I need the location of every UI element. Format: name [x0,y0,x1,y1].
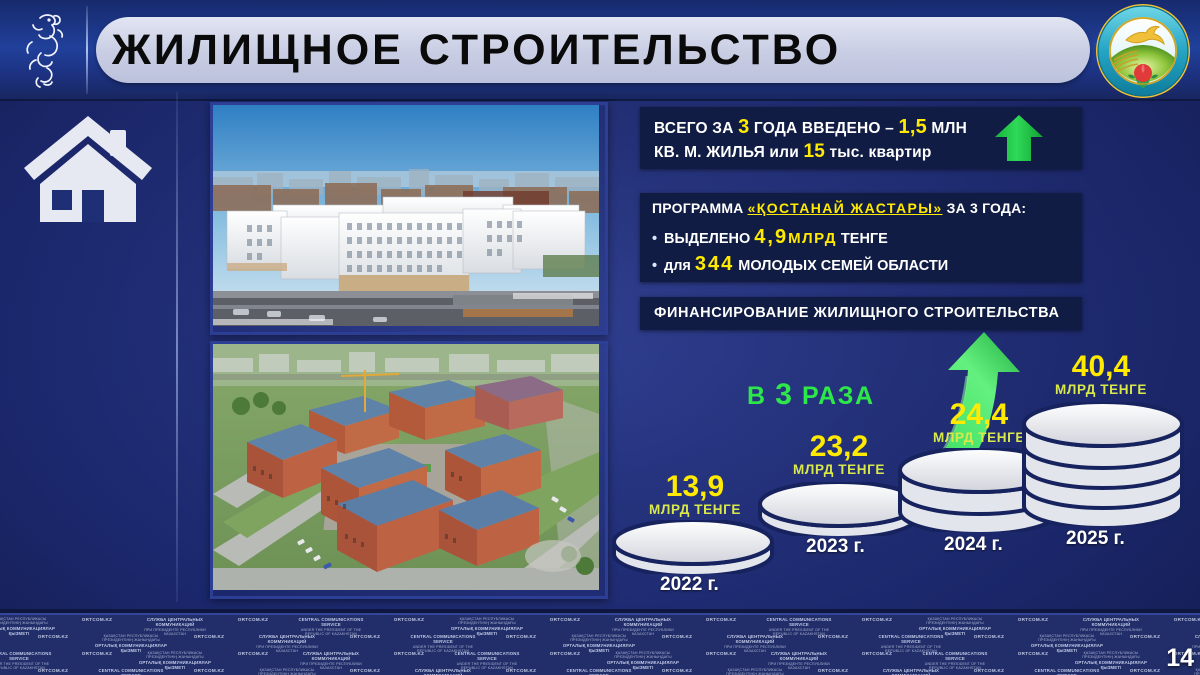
bullet2-amount: 344 [695,253,734,275]
footer-watermark-line: СЛУЖБА ЦЕНТРАЛЬНЫХ КОММУНИКАЦИЙ [292,651,370,662]
footer-watermark-line: ORTCOM.KZ [214,651,292,657]
footer-watermark-line: ҚАЗАҚСТАН РЕСПУБЛИКАСЫ ПРЕЗИДЕНТІНІҢ ЖАН… [916,617,994,626]
coin-stack-2025 [1018,402,1188,526]
footer-watermark-line: ҚАЗАҚСТАН РЕСПУБЛИКАСЫ ПРЕЗИДЕНТІНІҢ ЖАН… [136,651,214,660]
bullet1-unit: МЛРД [788,230,837,247]
footer-watermark-line: ORTCOM.KZ [950,634,1028,640]
header-divider [86,6,88,94]
footer-watermark-line: ҚАЗАҚСТАН РЕСПУБЛИКАСЫ ПРЕЗИДЕНТІНІҢ ЖАН… [92,634,170,643]
growth-pre: В [747,382,775,410]
footer-watermark-item: ORTCOM.KZ [326,634,404,640]
footer-watermark-item: ORTCOM.KZ [838,651,916,657]
footer-watermark-line: ҚАЗАҚСТАН РЕСПУБЛИКАСЫ ПРЕЗИДЕНТІНІҢ ЖАН… [1072,651,1150,660]
footer-watermark-line: ORTCOM.KZ [838,651,916,657]
kostanay-region-emblem-icon [1088,2,1196,100]
total-line-2: КВ. М. ЖИЛЬЯ или 15 тыс. квартир [654,141,932,163]
footer-watermark-item: ORTCOM.KZ [682,651,760,657]
house-icon [20,108,156,228]
footer-watermark-line: ORTCOM.KZ [326,668,404,674]
total-line2-pre: КВ. М. ЖИЛЬЯ или [654,144,803,161]
footer-watermark-item: ORTCOM.KZ [526,617,604,623]
footer-watermark-line: ORTCOM.KZ [58,617,136,623]
value-2025: 40,4 [1046,350,1156,384]
program-bullet-allocated: •ВЫДЕЛЕНО 4,9МЛРД ТЕНГЕ [652,226,888,249]
page-title: ЖИЛИЩНОЕ СТРОИТЕЛЬСТВО [112,18,1072,82]
footer-watermark-item: ORTCOM.KZ [638,634,716,640]
footer-watermark-item: ORTCOM.KZ [58,617,136,623]
footer-watermark-line: ORTCOM.KZ [682,617,760,623]
footer-watermark-line: СЛУЖБА ЦЕНТРАЛЬНЫХ КОММУНИКАЦИЙ [604,617,682,628]
footer-watermark-line: ORTCOM.KZ [58,651,136,657]
footer-watermark-line: СЛУЖБА ЦЕНТРАЛЬНЫХ КОММУНИКАЦИЙ [404,668,482,675]
value-2022: 13,9 [640,470,750,504]
footer-watermark-line: ORTCOM.KZ [526,651,604,657]
footer-watermark-line: ORTCOM.KZ [526,617,604,623]
program-box: ПРОГРАММА «ҚОСТАНАЙ ЖАСТАРЫ» ЗА 3 ГОДА: … [640,193,1082,282]
footer-watermark-item: ORTCOM.KZ [1106,634,1184,640]
footer-watermark-item: ORTCOM.KZ [638,668,716,674]
footer-watermark-line: CENTRAL COMMUNICATIONS SERVICE [0,651,58,662]
finance-title-text: ФИНАНСИРОВАНИЕ ЖИЛИЩНОГО СТРОИТЕЛЬСТВА [654,305,1060,321]
footer-watermark-line: ORTCOM.KZ [838,617,916,623]
slide-root: ЖИЛИЩНОЕ СТРОИТЕЛЬСТВО [0,0,1200,675]
footer-watermark-line: ORTCOM.KZ [794,634,872,640]
footer-watermark-item: ORTCOM.KZ [682,617,760,623]
footer-watermark-line: ҚАЗАҚСТАН РЕСПУБЛИКАСЫ ПРЕЗИДЕНТІНІҢ ЖАН… [1028,634,1106,643]
year-label-2023: 2023 г. [806,536,865,558]
footer-watermark-line: ҚАЗАҚСТАН РЕСПУБЛИКАСЫ ПРЕЗИДЕНТІНІҢ ЖАН… [560,634,638,643]
footer-watermark-line: CENTRAL COMMUNICATIONS SERVICE [916,651,994,662]
footer-watermark-line: CENTRAL COMMUNICATIONS SERVICE [448,651,526,662]
footer-watermark-line: ORTCOM.KZ [14,634,92,640]
footer-watermark-line: CENTRAL COMMUNICATIONS SERVICE [560,668,638,675]
footer-watermark-line: ORTCOM.KZ [14,668,92,674]
footer-watermark-line: СЛУЖБА ЦЕНТРАЛЬНЫХ КОММУНИКАЦИЙ [136,617,214,628]
footer-watermark-item: CENTRAL COMMUNICATIONS SERVICEUNDER THE … [560,668,638,675]
footer-watermark-item: ORTCOM.KZ [794,634,872,640]
footer-watermark-item: ORTCOM.KZ [482,668,560,674]
footer-watermark-line: CENTRAL COMMUNICATIONS SERVICE [292,617,370,628]
total-apartments-value: 15 [803,141,825,162]
bullet1-amount: 4,9 [754,226,788,248]
footer-watermark-item: ORTCOM.KZ [950,668,1028,674]
footer-watermark-item: СЛУЖБА ЦЕНТРАЛЬНЫХ КОММУНИКАЦИЙПРИ ПРЕЗИ… [872,668,950,675]
unit-2023: МЛРД ТЕНГЕ [774,462,904,477]
program-title-pre: ПРОГРАММА [652,200,748,216]
footer-watermark-item: ORTCOM.KZ [794,668,872,674]
footer-top-highlight [0,613,1200,615]
footer-watermark-line: ҚАЗАҚСТАН РЕСПУБЛИКАСЫ ПРЕЗИДЕНТІНІҢ ЖАН… [0,617,58,626]
growth-post: РАЗА [794,382,875,410]
footer-watermark-line: ORTCOM.KZ [994,651,1072,657]
footer-watermark-line: ORTCOM.KZ [326,634,404,640]
footer-watermark-line: ҚАЗАҚСТАН РЕСПУБЛИКАСЫ ПРЕЗИДЕНТІНІҢ ЖАН… [604,651,682,660]
footer-watermark-item: ORTCOM.KZ [370,651,448,657]
footer-watermark-line: CENTRAL COMMUNICATIONS SERVICE [92,668,170,675]
bullet2-post: МОЛОДЫХ СЕМЕЙ ОБЛАСТИ [734,258,948,274]
growth-multiplier: 3 [775,378,793,411]
footer-watermark-line: ORTCOM.KZ [170,668,248,674]
footer-watermark-item: ORTCOM.KZ [170,668,248,674]
footer-watermark-line: ORTCOM.KZ [482,634,560,640]
footer-watermark-line: CENTRAL COMMUNICATIONS SERVICE [760,617,838,628]
footer-watermark-item: ҚАЗАҚСТАН РЕСПУБЛИКАСЫ ПРЕЗИДЕНТІНІҢ ЖАН… [248,668,326,675]
coin-stack-2022 [608,520,778,574]
year-label-2024: 2024 г. [944,534,1003,556]
footer-watermark-item: ORTCOM.KZ [14,668,92,674]
footer-watermark-item: ORTCOM.KZ [370,617,448,623]
kazakhstan-coat-of-arms-icon [14,8,78,94]
footer-watermark-line: ORTCOM.KZ [1150,617,1200,623]
program-title: ПРОГРАММА «ҚОСТАНАЙ ЖАСТАРЫ» ЗА 3 ГОДА: [652,200,1026,216]
footer-watermark-line: ҚАЗАҚСТАН РЕСПУБЛИКАСЫ ПРЕЗИДЕНТІНІҢ ЖАН… [448,617,526,626]
program-bullet-families: •для 344 МОЛОДЫХ СЕМЕЙ ОБЛАСТИ [652,253,948,276]
footer-watermark-line: ORTCOM.KZ [170,634,248,640]
program-name: «ҚОСТАНАЙ ЖАСТАРЫ» [748,200,943,216]
footer-watermark-line: CENTRAL COMMUNICATIONS SERVICE [872,634,950,645]
footer-watermark-item: ORTCOM.KZ [170,634,248,640]
green-up-arrow-icon [993,113,1045,163]
footer-watermark-line: ҚАЗАҚСТАН РЕСПУБЛИКАСЫ ПРЕЗИДЕНТІНІҢ ЖАН… [248,668,326,675]
photo-new-apartment-blocks [210,102,608,335]
footer-watermark-line: ORTCOM.KZ [994,617,1072,623]
footer-watermark-item: ORTCOM.KZ [838,617,916,623]
footer-watermark-item: ORTCOM.KZ [214,617,292,623]
bullet2-pre: для [664,258,695,274]
footer-watermark-item: ORTCOM.KZ [214,651,292,657]
footer-watermark-line: СЛУЖБА ЦЕНТРАЛЬНЫХ КОММУНИКАЦИЙ [248,634,326,645]
footer-watermark-line: ORTCOM.KZ [214,617,292,623]
bullet1-post: ТЕНГЕ [837,231,888,247]
footer-watermark-line: ҚАЗАҚСТАН РЕСПУБЛИКАСЫ ПРЕЗИДЕНТІНІҢ ЖАН… [716,668,794,675]
total-line1-mid: ГОДА ВВЕДЕНО – [749,120,898,137]
footer-watermark-item: ORTCOM.KZ [482,634,560,640]
footer-watermark-item: ҚАЗАҚСТАН РЕСПУБЛИКАСЫ ПРЕЗИДЕНТІНІҢ ЖАН… [716,668,794,675]
program-title-post: ЗА 3 ГОДА: [943,200,1027,216]
footer-watermark-line: ORTCOM.KZ [682,651,760,657]
finance-title-box: ФИНАНСИРОВАНИЕ ЖИЛИЩНОГО СТРОИТЕЛЬСТВА [640,297,1082,330]
footer-watermark-line: CENTRAL COMMUNICATIONS SERVICE [404,634,482,645]
footer-watermark-item: ORTCOM.KZ [950,634,1028,640]
footer-watermark-item: СЛУЖБА ЦЕНТРАЛЬНЫХ КОММУНИКАЦИЙПРИ ПРЕЗИ… [404,668,482,675]
bullet-dot-icon: • [652,258,664,274]
growth-annotation: В 3 РАЗА [747,378,875,412]
total-million-value: 1,5 [899,116,927,138]
photo-residential-complex-aerial [210,341,608,599]
footer-watermark-line: ORTCOM.KZ [1106,634,1184,640]
unit-2022: МЛРД ТЕНГЕ [630,502,760,517]
footer-watermark-line: СЛУЖБА ЦЕНТРАЛЬНЫХ КОММУНИКАЦИЙ [872,668,950,675]
footer-watermark-item: ORTCOM.KZ [58,651,136,657]
year-label-2025: 2025 г. [1066,528,1125,550]
footer-watermark-line: ORTCOM.KZ [638,634,716,640]
footer-watermark-line: ORTCOM.KZ [950,668,1028,674]
bullet-dot-icon: • [652,231,664,247]
footer-watermark-item: ORTCOM.KZ [994,617,1072,623]
total-line-1: ВСЕГО ЗА 3 ГОДА ВВЕДЕНО – 1,5 МЛН [654,116,967,139]
footer-watermark-item: ORTCOM.KZ [1150,617,1200,623]
year-label-2022: 2022 г. [660,574,719,596]
value-2023: 23,2 [784,430,894,464]
header-bottom-rule [0,99,1200,101]
footer-watermark-line: ORTCOM.KZ [794,668,872,674]
unit-2025: МЛРД ТЕНГЕ [1036,382,1166,397]
financing-coin-chart: В 3 РАЗА 13,9 МЛРД ТЕНГЕ 2022 г. 23,2 МЛ [612,330,1200,602]
footer-watermark-item: CENTRAL COMMUNICATIONS SERVICEUNDER THE … [1028,668,1106,675]
footer-watermark-line: ORTCOM.KZ [370,617,448,623]
total-years-value: 3 [738,116,749,138]
footer-watermark-item: ORTCOM.KZ [526,651,604,657]
footer-watermark-line: ORTCOM.KZ [482,668,560,674]
footer-watermark-strip: ҚАЗАҚСТАН РЕСПУБЛИКАСЫ ПРЕЗИДЕНТІНІҢ ЖАН… [0,609,1200,675]
total-housing-box: ВСЕГО ЗА 3 ГОДА ВВЕДЕНО – 1,5 МЛН КВ. М.… [640,107,1082,169]
bullet1-pre: ВЫДЕЛЕНО [664,231,754,247]
footer-watermark-line: СЛУЖБА ЦЕНТРАЛЬНЫХ КОММУНИКАЦИЙ [716,634,794,645]
left-vertical-rule [176,92,178,602]
footer-watermark-line: СЛУЖБА ЦЕНТРАЛЬНЫХ КОММУНИКАЦИЙ [1072,617,1150,628]
footer-watermark-line: ORTCOM.KZ [370,651,448,657]
footer-watermark-line: CENTRAL COMMUNICATIONS SERVICE [1028,668,1106,675]
total-line1-pre: ВСЕГО ЗА [654,120,738,137]
footer-watermark-item: CENTRAL COMMUNICATIONS SERVICEUNDER THE … [92,668,170,675]
total-line2-post: тыс. квартир [825,144,932,161]
footer-watermark-line: СЛУЖБА ЦЕНТРАЛЬНЫХ КОММУНИКАЦИЙ [760,651,838,662]
footer-watermark-item: ORTCOM.KZ [994,651,1072,657]
page-number: 14 [1166,644,1194,673]
total-line1-post: МЛН [927,120,967,137]
footer-watermark-line: ORTCOM.KZ [638,668,716,674]
footer-watermark-item: ORTCOM.KZ [326,668,404,674]
footer-watermark-item: ORTCOM.KZ [14,634,92,640]
